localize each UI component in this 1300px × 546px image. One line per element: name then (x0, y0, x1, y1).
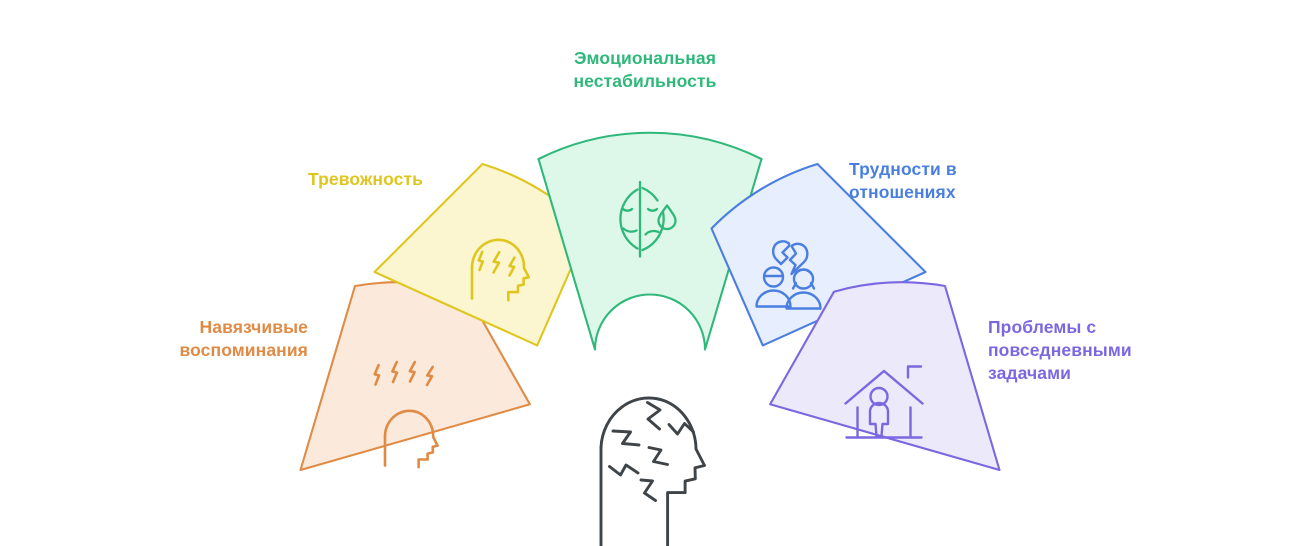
segment-label-daily-task-problems: Проблемы с повседневными задачами (988, 316, 1236, 385)
center-head-icon-group (601, 398, 705, 546)
segment-label-relationship-difficulties: Трудности в отношениях (849, 158, 1092, 204)
head-with-chaotic-thoughts-icon (601, 398, 705, 546)
segment-label-anxiety: Тревожность (180, 168, 423, 191)
segment-label-intrusive-memories: Навязчивые воспоминания (60, 316, 308, 362)
segment-label-emotional-instability: Эмоциональная нестабильность (521, 47, 769, 93)
